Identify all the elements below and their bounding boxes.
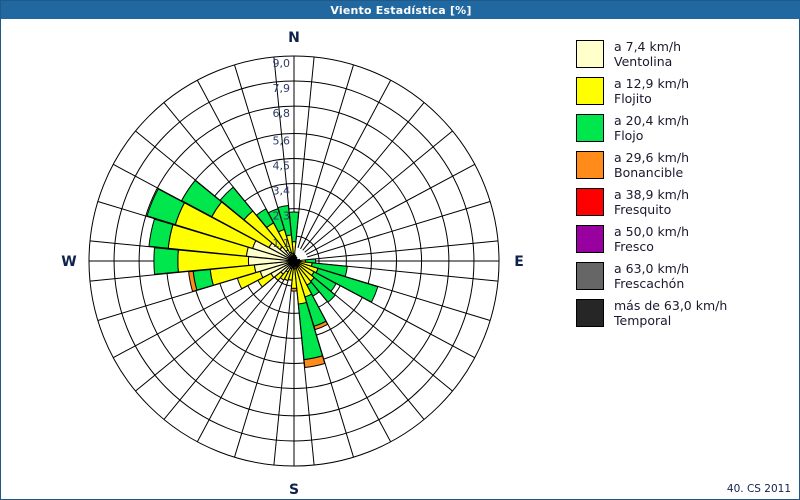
radial-tick-label: 9,0: [273, 57, 291, 70]
legend-swatch: [576, 262, 604, 290]
grid-spoke: [298, 65, 354, 248]
radial-tick-label: 3,4: [273, 185, 291, 198]
legend-item[interactable]: a 29,6 km/hBonancible: [576, 150, 796, 180]
legend-label-speed: a 7,4 km/h: [614, 39, 681, 54]
legend-label-name: Frescachón: [614, 276, 689, 291]
legend-label: a 12,9 km/hFlojito: [614, 76, 689, 106]
legend-label-speed: a 38,9 km/h: [614, 187, 689, 202]
legend-swatch: [576, 114, 604, 142]
radial-tick-label: 2,3: [273, 210, 291, 223]
footer-credit: 40. CS 2011: [727, 483, 791, 495]
legend-item[interactable]: a 63,0 km/hFrescachón: [576, 261, 796, 291]
grid-spoke: [136, 270, 284, 391]
wind-rose-petal-segment: [291, 288, 297, 291]
grid-spoke: [234, 274, 290, 457]
legend-item[interactable]: a 50,0 km/hFresco: [576, 224, 796, 254]
wind-rose-petal-segment: [154, 248, 178, 275]
legend-label-speed: a 20,4 km/h: [614, 113, 689, 128]
legend-item[interactable]: a 38,9 km/hFresquito: [576, 187, 796, 217]
radial-tick-label: 5,6: [273, 134, 291, 147]
legend-label: a 38,9 km/hFresquito: [614, 187, 689, 217]
legend-label: a 20,4 km/hFlojo: [614, 113, 689, 143]
legend-swatch: [576, 225, 604, 253]
legend: a 7,4 km/hVentolinaa 12,9 km/hFlojitoa 2…: [576, 39, 796, 335]
wind-statistics-window: Viento Estadística [%] NESW1,12,33,44,55…: [0, 0, 800, 500]
legend-label-speed: más de 63,0 km/h: [614, 298, 727, 313]
legend-label-name: Fresquito: [614, 202, 689, 217]
legend-label: a 63,0 km/hFrescachón: [614, 261, 689, 291]
radial-tick-label: 6,8: [273, 107, 291, 120]
radial-tick-label: 7,9: [273, 82, 291, 95]
legend-label-speed: a 12,9 km/h: [614, 76, 689, 91]
compass-label-west: W: [61, 254, 76, 270]
legend-label: más de 63,0 km/hTemporal: [614, 298, 727, 328]
legend-label-speed: a 29,6 km/h: [614, 150, 689, 165]
legend-item[interactable]: a 7,4 km/hVentolina: [576, 39, 796, 69]
grid-spoke: [303, 103, 424, 251]
legend-item[interactable]: a 20,4 km/hFlojo: [576, 113, 796, 143]
legend-swatch: [576, 188, 604, 216]
legend-label-name: Ventolina: [614, 54, 681, 69]
window-title-bar: Viento Estadística [%]: [1, 1, 800, 19]
radial-tick-label: 4,5: [273, 160, 291, 173]
legend-label-speed: a 50,0 km/h: [614, 224, 689, 239]
legend-label-name: Temporal: [614, 313, 727, 328]
window-title: Viento Estadística [%]: [330, 4, 471, 17]
legend-label-name: Bonancible: [614, 165, 689, 180]
grid-spoke: [274, 275, 293, 465]
legend-label-name: Flojito: [614, 91, 689, 106]
petals-group: [147, 180, 378, 367]
legend-label: a 29,6 km/hBonancible: [614, 150, 689, 180]
compass-label-north: N: [288, 30, 300, 46]
legend-label-name: Flojo: [614, 128, 689, 143]
grid-spoke: [305, 131, 453, 252]
legend-swatch: [576, 299, 604, 327]
legend-swatch: [576, 151, 604, 179]
legend-item[interactable]: a 12,9 km/hFlojito: [576, 76, 796, 106]
legend-label-name: Fresco: [614, 239, 689, 254]
legend-swatch: [576, 40, 604, 68]
grid-spoke: [307, 201, 490, 257]
radial-tick-label: 1,1: [273, 237, 291, 250]
legend-swatch: [576, 77, 604, 105]
grid-spoke: [164, 272, 285, 420]
grid-spoke: [308, 241, 498, 260]
legend-label: a 50,0 km/hFresco: [614, 224, 689, 254]
compass-label-south: S: [289, 482, 299, 498]
legend-label: a 7,4 km/hVentolina: [614, 39, 681, 69]
legend-item[interactable]: más de 63,0 km/hTemporal: [576, 298, 796, 328]
compass-label-east: E: [514, 254, 524, 270]
legend-label-speed: a 63,0 km/h: [614, 261, 689, 276]
